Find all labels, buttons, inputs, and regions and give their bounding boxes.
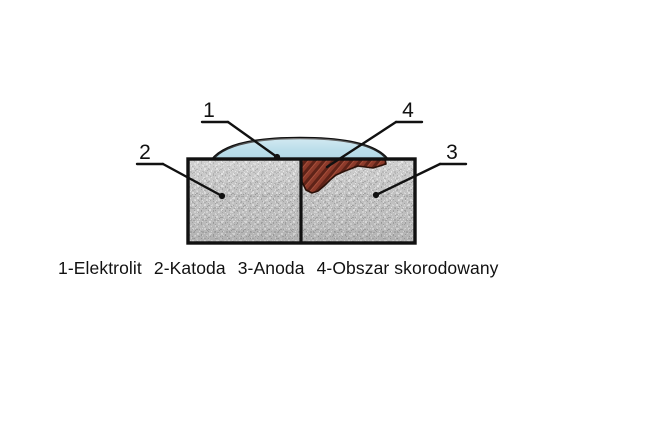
electrolyte-highlight (212, 138, 388, 160)
leader-3-dot (373, 192, 379, 198)
leader-2-dot (219, 193, 225, 199)
corrosion-diagram: 1 2 3 4 (0, 0, 650, 430)
electrolyte-droplet (212, 138, 388, 160)
leader-1-dot (274, 154, 280, 160)
label-1: 1 (203, 99, 215, 122)
label-3: 3 (446, 141, 458, 164)
caption-item-electrolyte: 1-Elektrolit (58, 258, 142, 278)
label-4: 4 (402, 99, 414, 122)
label-2: 2 (139, 141, 151, 164)
figure-caption: 1-Elektrolit2-Katoda3-Anoda4-Obszar skor… (58, 258, 499, 279)
caption-item-corroded-area: 4-Obszar skorodowany (317, 258, 499, 278)
caption-item-anode: 3-Anoda (238, 258, 305, 278)
caption-item-cathode: 2-Katoda (154, 258, 226, 278)
figure-canvas: 1 2 3 4 1-Elektrolit2-Katoda3-Anoda4-Obs… (0, 0, 650, 430)
